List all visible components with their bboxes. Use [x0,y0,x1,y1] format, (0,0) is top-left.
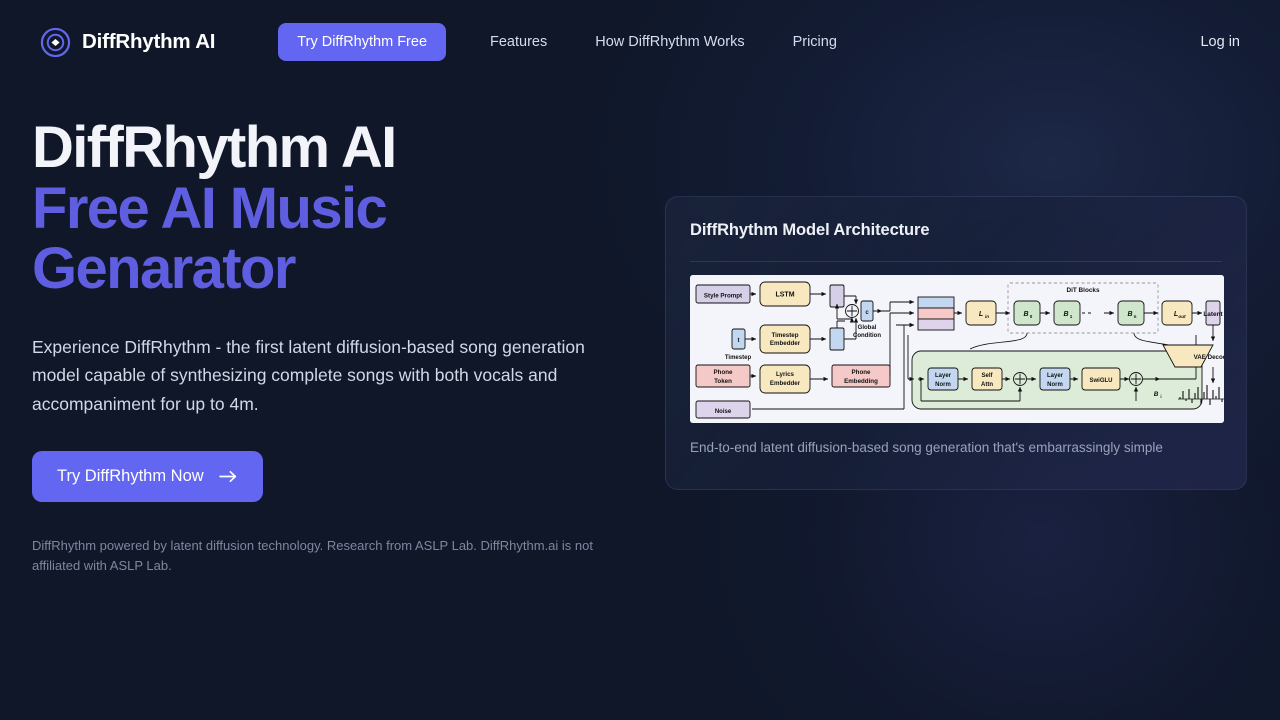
brand-name: DiffRhythm AI [82,30,215,54]
svg-text:SwiGLU: SwiGLU [1089,378,1112,384]
svg-text:Timestep: Timestep [725,355,752,361]
arrow-right-icon [219,469,238,484]
svg-text:out: out [1178,314,1186,319]
svg-text:Phone: Phone [852,369,871,376]
svg-text:Norm: Norm [1047,382,1063,388]
architecture-card-title: DiffRhythm Model Architecture [690,221,1222,240]
svg-text:Norm: Norm [935,382,951,388]
hero-section: DiffRhythm AI Free AI Music Genarator Ex… [32,118,642,576]
svg-text:Token: Token [714,378,732,385]
architecture-card: DiffRhythm Model Architecture [665,196,1247,490]
header-right: Log in [1200,34,1240,50]
architecture-card-caption: End-to-end latent diffusion-based song g… [690,440,1222,455]
login-link[interactable]: Log in [1200,34,1240,50]
page-root: DiffRhythm AI Try DiffRhythm Free Featur… [0,0,1280,720]
svg-text:Condition: Condition [853,333,881,339]
circle-eye-logo-icon [40,27,71,58]
svg-text:Self: Self [981,373,993,379]
try-diffrhythm-now-button[interactable]: Try DiffRhythm Now [32,451,263,502]
svg-text:Embedding: Embedding [844,378,878,385]
architecture-diagram-image: Style Prompt LSTM t Timestep Timestep Em… [690,275,1224,423]
svg-text:Phone: Phone [714,369,733,376]
svg-text:Global: Global [858,325,877,331]
svg-text:Layer: Layer [1047,373,1064,379]
svg-text:t: t [738,338,740,344]
hero-disclaimer: DiffRhythm powered by latent diffusion t… [32,536,612,576]
svg-text:L: L [979,311,983,318]
svg-text:Attn: Attn [981,382,993,388]
svg-text:B: B [1063,311,1068,318]
site-header: DiffRhythm AI Try DiffRhythm Free Featur… [0,0,1280,84]
hero-title-line-2: Free AI Music [32,176,386,241]
svg-text:n: n [1134,314,1137,319]
svg-text:Lyrics: Lyrics [776,371,795,378]
svg-text:Layer: Layer [935,373,952,379]
svg-text:B: B [1023,311,1028,318]
svg-text:Style Prompt: Style Prompt [704,293,742,300]
hero-title-line-3: Genarator [32,236,295,301]
svg-text:Noise: Noise [715,409,732,415]
svg-text:Embedder: Embedder [770,380,801,387]
svg-text:VAE Decoder: VAE Decoder [1194,354,1224,361]
svg-text:0: 0 [1030,314,1033,319]
svg-text:DiT Blocks: DiT Blocks [1066,287,1099,294]
nav-link-how-it-works[interactable]: How DiffRhythm Works [595,26,744,58]
nav-try-free-button[interactable]: Try DiffRhythm Free [278,23,446,61]
svg-text:in: in [985,314,989,319]
svg-text:LSTM: LSTM [775,292,794,299]
svg-text:B: B [1154,391,1159,398]
primary-nav: Try DiffRhythm Free Features How DiffRhy… [278,23,837,61]
page-title: DiffRhythm AI Free AI Music Genarator [32,118,642,300]
brand-logo[interactable]: DiffRhythm AI [40,27,215,58]
svg-text:i: i [1160,394,1161,399]
svg-text:Embedder: Embedder [770,340,801,347]
svg-text:B: B [1127,311,1132,318]
nav-link-pricing[interactable]: Pricing [793,26,837,58]
hero-subtitle: Experience DiffRhythm - the first latent… [32,333,612,418]
diffrhythm-architecture-diagram: Style Prompt LSTM t Timestep Timestep Em… [690,275,1224,423]
hero-cta-label: Try DiffRhythm Now [57,467,204,486]
card-divider [690,261,1222,262]
svg-text:Timestep: Timestep [771,332,798,339]
hero-title-line-1: DiffRhythm AI [32,115,396,180]
svg-text:1: 1 [1070,314,1073,319]
nav-link-features[interactable]: Features [490,26,547,58]
svg-text:Latent: Latent [1203,311,1223,318]
